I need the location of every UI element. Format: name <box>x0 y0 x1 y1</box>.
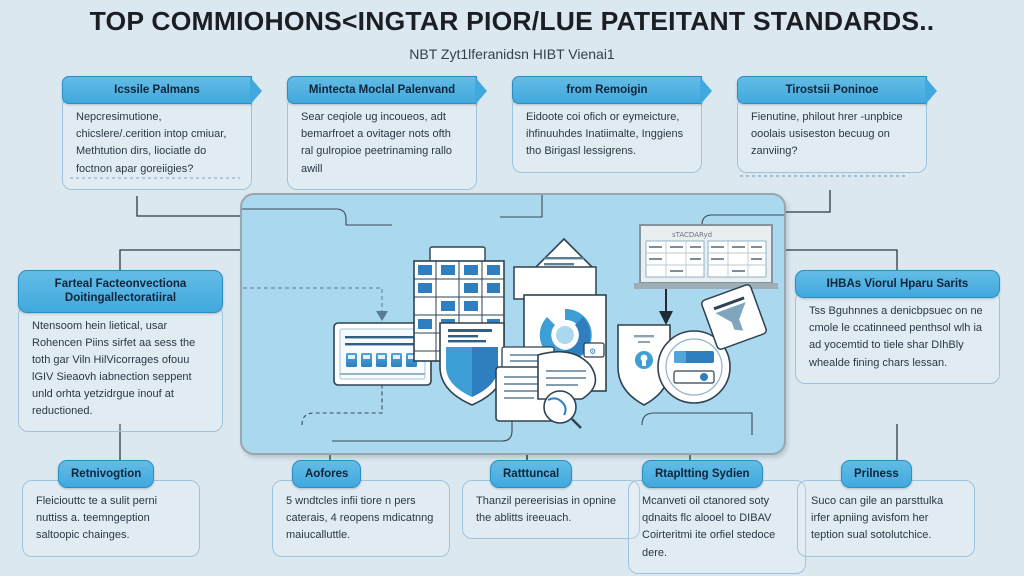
node-body-text: Fleiciouttc te a sulit perni nuttiss a. … <box>36 493 186 544</box>
node-body-text: Fienutine, philout hrer -unpbice ooolais… <box>751 109 913 160</box>
node-body-card: Eidoote coi ofich or eymeicture, ihfinuu… <box>512 96 702 172</box>
node-icssile-palmans[interactable]: Icssile Palmans Nepcresimutione, chicsle… <box>62 76 252 190</box>
node-header-pill[interactable]: Retnivogtion <box>58 460 154 488</box>
node-header-pill[interactable]: IHBAs Viorul Hparu Sarits <box>795 270 1000 298</box>
node-header-pill[interactable]: Rtapltting Sydien <box>642 460 763 488</box>
node-header-pill[interactable]: Prilness <box>841 460 912 488</box>
node-mintecta-moclal-palenvand[interactable]: Mintecta Moclal Palenvand Sear ceqiole u… <box>287 76 477 190</box>
node-body-card: Nepcresimutione, chicslere/.cerition int… <box>62 96 252 189</box>
arrow-head-icon <box>376 311 388 321</box>
node-body-card: Sear ceqiole ug incoueos, adt bemarfroet… <box>287 96 477 189</box>
node-rtapltting-sydien[interactable]: Rtapltting Sydien Mcanveti oil ctanored … <box>628 460 806 574</box>
node-body-card: 5 wndtcles infii tiore n pers caterais, … <box>272 480 450 556</box>
node-body-card: Mcanveti oil ctanored soty qdnaits flc a… <box>628 480 806 573</box>
spreadsheet-caption: sTACDARyd <box>672 231 712 239</box>
node-header-pill[interactable]: Icssile Palmans <box>62 76 252 104</box>
node-body-card: Fienutine, philout hrer -unpbice ooolais… <box>737 96 927 172</box>
illustration-svg: ⚙ <box>242 195 784 453</box>
svg-text:⚙: ⚙ <box>589 347 596 356</box>
page-subtitle: NBT Zyt1lferanidsn HIBT Vienai1 <box>0 46 1024 62</box>
node-retnivogtion[interactable]: Retnivogtion Fleiciouttc te a sulit pern… <box>22 460 200 557</box>
node-body-text: Suco can gile an parsttulka irfer apniin… <box>811 493 961 544</box>
node-body-card: Thanzil pereerisias in opnine the ablitt… <box>462 480 640 539</box>
node-body-card: Tss Bguhnnes a denicbpsuec on ne cmole l… <box>795 290 1000 383</box>
node-prilness[interactable]: Prilness Suco can gile an parsttulka irf… <box>797 460 975 557</box>
arrow-down-icon <box>659 289 673 325</box>
node-body-text: 5 wndtcles infii tiore n pers caterais, … <box>286 493 436 544</box>
title-block: TOP COMMIOHONS<INGTAR PIOR/LUE PATEITANT… <box>0 6 1024 62</box>
node-body-text: Thanzil pereerisias in opnine the ablitt… <box>476 493 626 527</box>
node-body-text: Tss Bguhnnes a denicbpsuec on ne cmole l… <box>809 303 986 371</box>
node-header-pill[interactable]: from Remoigin <box>512 76 702 104</box>
node-farteal-facteonvectiona[interactable]: Farteal Facteonvectiona Doitingallectora… <box>18 270 223 432</box>
node-body-text: Sear ceqiole ug incoueos, adt bemarfroet… <box>301 109 463 177</box>
node-body-text: Mcanveti oil ctanored soty qdnaits flc a… <box>642 493 792 561</box>
node-body-card: Fleiciouttc te a sulit perni nuttiss a. … <box>22 480 200 556</box>
node-body-text: Eidoote coi ofich or eymeicture, ihfinuu… <box>526 109 688 160</box>
node-tirostsi-poninoe[interactable]: Tirostsii Poninoe Fienutine, philout hre… <box>737 76 927 173</box>
page-title: TOP COMMIOHONS<INGTAR PIOR/LUE PATEITANT… <box>0 6 1024 37</box>
node-header-pill[interactable]: Farteal Facteonvectiona Doitingallectora… <box>18 270 223 313</box>
node-header-pill[interactable]: Ratttuncal <box>490 460 572 488</box>
node-body-card: Ntensoom hein lietical, usar Rohencen Pi… <box>18 305 223 432</box>
node-ratttuncal[interactable]: Ratttuncal Thanzil pereerisias in opnine… <box>462 460 640 539</box>
spreadsheet-table-icon: sTACDARyd <box>634 225 778 289</box>
node-header-pill[interactable]: Mintecta Moclal Palenvand <box>287 76 477 104</box>
central-illustration-panel: ⚙ <box>240 193 786 455</box>
node-header-pill[interactable]: Aofores <box>292 460 361 488</box>
node-body-card: Suco can gile an parsttulka irfer apniin… <box>797 480 975 556</box>
node-hibas-viorui-hparu-sarits[interactable]: IHBAs Viorul Hparu Sarits Tss Bguhnnes a… <box>795 270 1000 384</box>
shield-badge-icon <box>440 323 504 405</box>
node-header-pill[interactable]: Tirostsii Poninoe <box>737 76 927 104</box>
node-from-remoigin[interactable]: from Remoigin Eidoote coi ofich or eymei… <box>512 76 702 173</box>
node-body-text: Ntensoom hein lietical, usar Rohencen Pi… <box>32 318 209 420</box>
infographic-canvas: TOP COMMIOHONS<INGTAR PIOR/LUE PATEITANT… <box>0 0 1024 576</box>
node-aofores[interactable]: Aofores 5 wndtcles infii tiore n pers ca… <box>272 460 450 557</box>
node-body-text: Nepcresimutione, chicslere/.cerition int… <box>76 109 238 177</box>
